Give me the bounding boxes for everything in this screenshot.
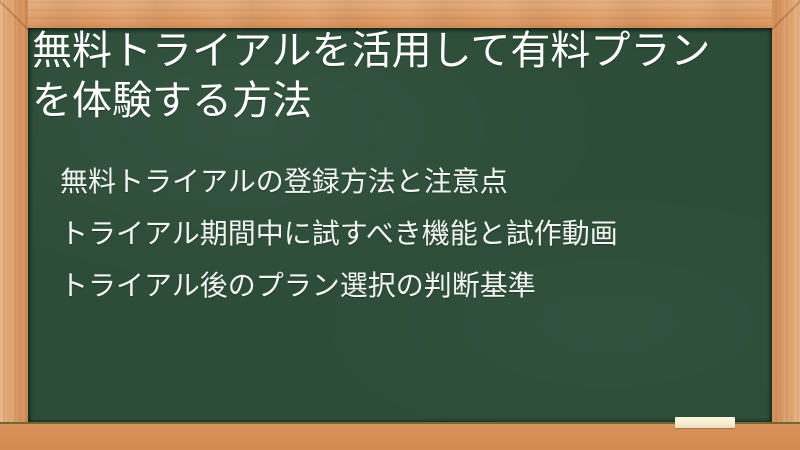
blackboard-content: 無料トライアルを活用して有料プラン を体験する方法 無料トライアルの登録方法と注…: [28, 28, 772, 422]
list-item: トライアル後のプラン選択の判断基準: [60, 260, 750, 312]
chalk-stick-icon: [675, 417, 735, 428]
blackboard-surface: 無料トライアルを活用して有料プラン を体験する方法 無料トライアルの登録方法と注…: [28, 28, 772, 422]
topic-list: 無料トライアルの登録方法と注意点 トライアル期間中に試すべき機能と試作動画 トラ…: [60, 156, 750, 312]
blackboard-slide: 無料トライアルを活用して有料プラン を体験する方法 無料トライアルの登録方法と注…: [0, 0, 800, 450]
frame-right-rail: [772, 0, 800, 450]
list-item: トライアル期間中に試すべき機能と試作動画: [60, 208, 750, 260]
slide-title: 無料トライアルを活用して有料プラン を体験する方法: [32, 26, 732, 126]
list-item: 無料トライアルの登録方法と注意点: [60, 156, 750, 208]
frame-left-rail: [0, 0, 28, 450]
